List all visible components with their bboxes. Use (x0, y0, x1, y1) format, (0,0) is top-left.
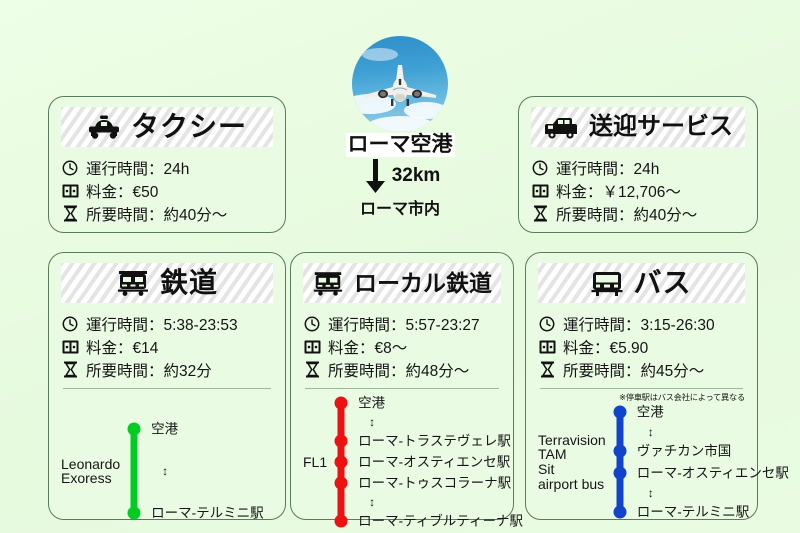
transport-card-train: 鉄道 運行時間：5:38-23:53 料金：€14 所要時間：約32分 Leon… (48, 252, 286, 520)
info-text: 料金：€5.90 (563, 336, 648, 358)
info-text: 運行時間：3:15-26:30 (563, 313, 715, 335)
info-text: 所要時間：約40分〜 (556, 203, 697, 225)
transport-card-shuttle: 送迎サービス 運行時間：24h 料金：￥12,706〜 所要時間：約40分〜 (518, 96, 758, 233)
transport-card-taxi: タクシー 運行時間：24h 料金：€50 所要時間：約40分〜 (48, 96, 286, 233)
info-text: 運行時間：24h (556, 157, 659, 179)
airport-name: ローマ空港 (346, 133, 455, 157)
bus-icon (591, 270, 623, 297)
operator-line: Sit (538, 462, 606, 477)
updown-arrow-icon: ↕ (162, 465, 168, 477)
route-stop-marker (335, 456, 348, 469)
transport-card-local-train: ローカル鉄道 運行時間：5:57-23:27 料金：€8〜 所要時間：約48分〜… (290, 252, 514, 520)
airplane-landing-photo (352, 36, 448, 132)
operator-line: TAM (538, 447, 606, 462)
info-text: 所要時間：約32分 (86, 359, 212, 381)
info-row-duration: 所要時間：約45分〜 (538, 358, 745, 381)
info-row-duration: 所要時間：約32分 (61, 358, 273, 381)
station-label: ヴァチカン市国 (637, 444, 732, 458)
info-row-fare: 料金：€5.90 (538, 335, 745, 358)
taxi-icon (87, 114, 121, 140)
route-stop-marker (128, 507, 141, 520)
divider (305, 388, 499, 389)
card-header: バス (538, 263, 745, 303)
money-icon (61, 340, 79, 354)
card-header: ローカル鉄道 (303, 263, 501, 303)
info-row-hours: 運行時間：5:57-23:27 (303, 312, 501, 335)
station-label: ローマ-オスティエンセ駅 (358, 455, 510, 469)
route-line (331, 397, 351, 515)
clock-icon (61, 160, 79, 176)
distance-arrow-row: 32km (318, 158, 482, 194)
route-operator-label: LeonardoExoress (61, 457, 124, 486)
transport-card-bus: バス 運行時間：3:15-26:30 料金：€5.90 所要時間：約45分〜 ※… (525, 252, 758, 520)
station-label: 空港 (358, 396, 385, 410)
hourglass-icon (61, 361, 79, 378)
info-list: 運行時間：24h 料金：€50 所要時間：約40分〜 (61, 156, 273, 225)
updown-arrow-icon: ↕ (648, 487, 654, 499)
station-label: 空港 (151, 422, 178, 436)
route-line-bar (616, 412, 623, 512)
route-line (124, 423, 144, 519)
down-arrow-icon (360, 158, 390, 194)
route-stop-marker (335, 477, 348, 490)
operator-line: airport bus (538, 477, 606, 492)
operator-line: Exoress (61, 471, 120, 486)
operator-line: Leonardo (61, 457, 120, 472)
money-icon (538, 340, 556, 354)
bus-stop-note: ※停車駅はバス会社によって異なる (538, 391, 745, 403)
route-operator-label: TerravisionTAMSitairport bus (538, 433, 610, 492)
info-text: 所要時間：約40分〜 (86, 203, 227, 225)
route-stop-marker (613, 506, 626, 519)
route-operator-label: FL1 (303, 455, 331, 470)
station-label: ローマ-テルミニ駅 (151, 506, 264, 520)
airport-summary: ローマ空港 32km ローマ市内 (318, 36, 482, 219)
info-text: 料金：￥12,706〜 (556, 180, 681, 202)
operator-line: Terravision (538, 433, 606, 448)
money-icon (303, 340, 321, 354)
info-row-hours: 運行時間：3:15-26:30 (538, 312, 745, 335)
van-icon (543, 114, 579, 140)
card-header: 送迎サービス (531, 107, 745, 147)
info-text: 料金：€50 (86, 180, 158, 202)
route-station-list: 空港↕ヴァチカン市国ローマ-オスティエンセ駅↕ローマ-テルミニ駅 (630, 406, 745, 506)
info-text: 運行時間：24h (86, 157, 189, 179)
info-row-fare: 料金：€8〜 (303, 335, 501, 358)
card-title: 送迎サービス (589, 115, 733, 139)
card-title: バス (633, 269, 691, 297)
info-text: 運行時間：5:57-23:27 (328, 313, 480, 335)
info-text: 所要時間：約48分〜 (328, 359, 469, 381)
info-row-fare: 料金：€50 (61, 179, 273, 202)
hourglass-icon (303, 361, 321, 378)
info-list: 運行時間：24h 料金：￥12,706〜 所要時間：約40分〜 (531, 156, 745, 225)
clock-icon (531, 160, 549, 176)
info-row-duration: 所要時間：約40分〜 (61, 202, 273, 225)
info-row-hours: 運行時間：5:38-23:53 (61, 312, 273, 335)
cloud-shape (362, 48, 398, 61)
updown-arrow-icon: ↕ (648, 426, 654, 438)
info-text: 料金：€14 (86, 336, 158, 358)
info-text: 所要時間：約45分〜 (563, 359, 704, 381)
route-stop-marker (335, 397, 348, 410)
airplane-icon (360, 61, 440, 109)
info-list: 運行時間：5:57-23:27 料金：€8〜 所要時間：約48分〜 (303, 312, 501, 381)
destination-city-label: ローマ市内 (318, 195, 482, 219)
info-row-hours: 運行時間：24h (531, 156, 745, 179)
hourglass-icon (531, 205, 549, 222)
info-text: 運行時間：5:38-23:53 (86, 313, 238, 335)
distance-label: 32km (392, 165, 441, 187)
info-row-duration: 所要時間：約48分〜 (303, 358, 501, 381)
clock-icon (61, 316, 79, 332)
route-stop-marker (613, 445, 626, 458)
card-header: タクシー (61, 107, 273, 147)
info-row-duration: 所要時間：約40分〜 (531, 202, 745, 225)
route-stop-marker (335, 435, 348, 448)
info-list: 運行時間：3:15-26:30 料金：€5.90 所要時間：約45分〜 (538, 312, 745, 381)
station-label: ローマ-トゥスコラーナ駅 (358, 476, 511, 490)
info-row-fare: 料金：€14 (61, 335, 273, 358)
cloud-shape (366, 116, 436, 132)
route-diagram: TerravisionTAMSitairport bus 空港↕ヴァチカン市国ロ… (538, 406, 745, 506)
station-label: ローマ-テルミニ駅 (637, 505, 750, 519)
route-diagram: LeonardoExoress 空港↕ローマ-テルミニ駅 (61, 423, 273, 519)
route-station-list: 空港↕ローマ-テルミニ駅 (144, 423, 273, 519)
info-text: 料金：€8〜 (328, 336, 407, 358)
money-icon (531, 184, 549, 198)
station-label: ローマ-トラステヴェレ駅 (358, 434, 511, 448)
updown-arrow-icon: ↕ (369, 496, 375, 508)
station-label: ローマ-ティブルティーナ駅 (358, 514, 523, 528)
hourglass-icon (538, 361, 556, 378)
info-row-fare: 料金：￥12,706〜 (531, 179, 745, 202)
updown-arrow-icon: ↕ (369, 416, 375, 428)
train-icon (116, 269, 150, 297)
route-diagram: FL1 空港↕ローマ-トラステヴェレ駅ローマ-オスティエンセ駅ローマ-トゥスコラ… (303, 397, 501, 515)
operator-line: FL1 (303, 455, 327, 470)
route-stop-marker (335, 515, 348, 528)
station-label: ローマ-オスティエンセ駅 (637, 466, 789, 480)
clock-icon (303, 316, 321, 332)
route-line-bar (131, 429, 138, 513)
money-icon (61, 184, 79, 198)
card-title: タクシー (131, 113, 247, 141)
station-label: 空港 (637, 405, 664, 419)
card-title: ローカル鉄道 (354, 272, 492, 295)
info-list: 運行時間：5:38-23:53 料金：€14 所要時間：約32分 (61, 312, 273, 381)
route-stop-marker (613, 406, 626, 419)
card-title: 鉄道 (160, 269, 218, 297)
info-row-hours: 運行時間：24h (61, 156, 273, 179)
hourglass-icon (61, 205, 79, 222)
route-line (610, 406, 630, 506)
divider (540, 388, 743, 389)
card-header: 鉄道 (61, 263, 273, 303)
train-icon (312, 270, 344, 297)
route-stop-marker (128, 423, 141, 436)
route-station-list: 空港↕ローマ-トラステヴェレ駅ローマ-オスティエンセ駅ローマ-トゥスコラーナ駅↕… (351, 397, 501, 515)
divider (63, 388, 271, 389)
clock-icon (538, 316, 556, 332)
route-stop-marker (613, 467, 626, 480)
